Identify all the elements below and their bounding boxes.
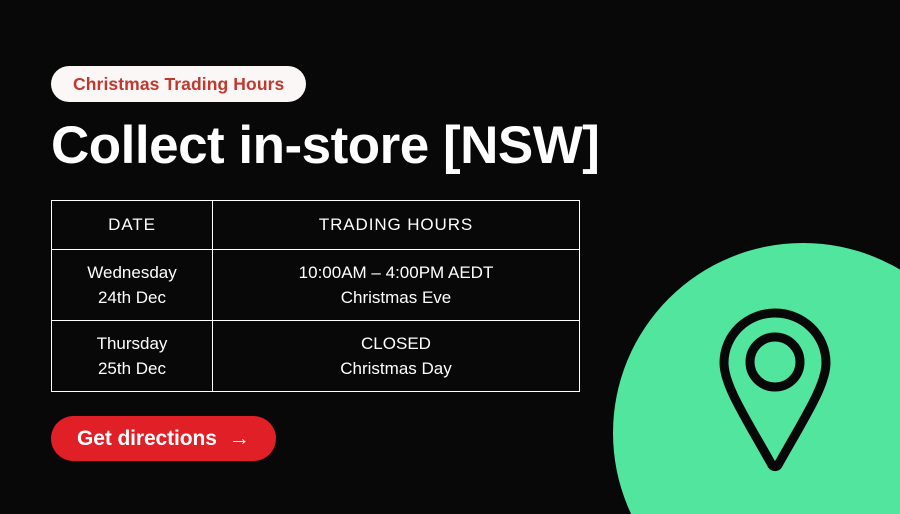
trading-hours-table: DATE TRADING HOURS Wednesday 24th Dec 10…: [51, 200, 580, 392]
table-header-row: DATE TRADING HOURS: [52, 201, 580, 250]
map-pin-icon: [715, 305, 835, 475]
column-header-trading-hours: TRADING HOURS: [213, 201, 580, 250]
cell-date: Thursday 25th Dec: [52, 321, 213, 392]
christmas-trading-hours-banner: Christmas Trading Hours Collect in-store…: [0, 0, 900, 514]
page-title: Collect in-store [NSW]: [51, 117, 599, 175]
cell-date-day: Thursday: [52, 331, 212, 357]
cell-hours-time: 10:00AM – 4:00PM AEDT: [213, 260, 579, 286]
cell-date-day: Wednesday: [52, 260, 212, 286]
get-directions-label: Get directions: [77, 427, 217, 451]
cell-trading-hours: CLOSED Christmas Day: [213, 321, 580, 392]
table-row: Thursday 25th Dec CLOSED Christmas Day: [52, 321, 580, 392]
cell-date-date: 24th Dec: [52, 285, 212, 311]
status-badge: Christmas Trading Hours: [51, 66, 306, 102]
status-badge-label: Christmas Trading Hours: [73, 74, 284, 95]
cell-trading-hours: 10:00AM – 4:00PM AEDT Christmas Eve: [213, 250, 580, 321]
cell-hours-time: CLOSED: [213, 331, 579, 357]
cell-hours-note: Christmas Day: [213, 356, 579, 382]
cell-date: Wednesday 24th Dec: [52, 250, 213, 321]
arrow-right-icon: →: [229, 428, 250, 449]
table-row: Wednesday 24th Dec 10:00AM – 4:00PM AEDT…: [52, 250, 580, 321]
cell-date-date: 25th Dec: [52, 356, 212, 382]
column-header-date: DATE: [52, 201, 213, 250]
banner-content: Christmas Trading Hours Collect in-store…: [51, 0, 611, 514]
cell-hours-note: Christmas Eve: [213, 285, 579, 311]
get-directions-button[interactable]: Get directions →: [51, 416, 276, 461]
